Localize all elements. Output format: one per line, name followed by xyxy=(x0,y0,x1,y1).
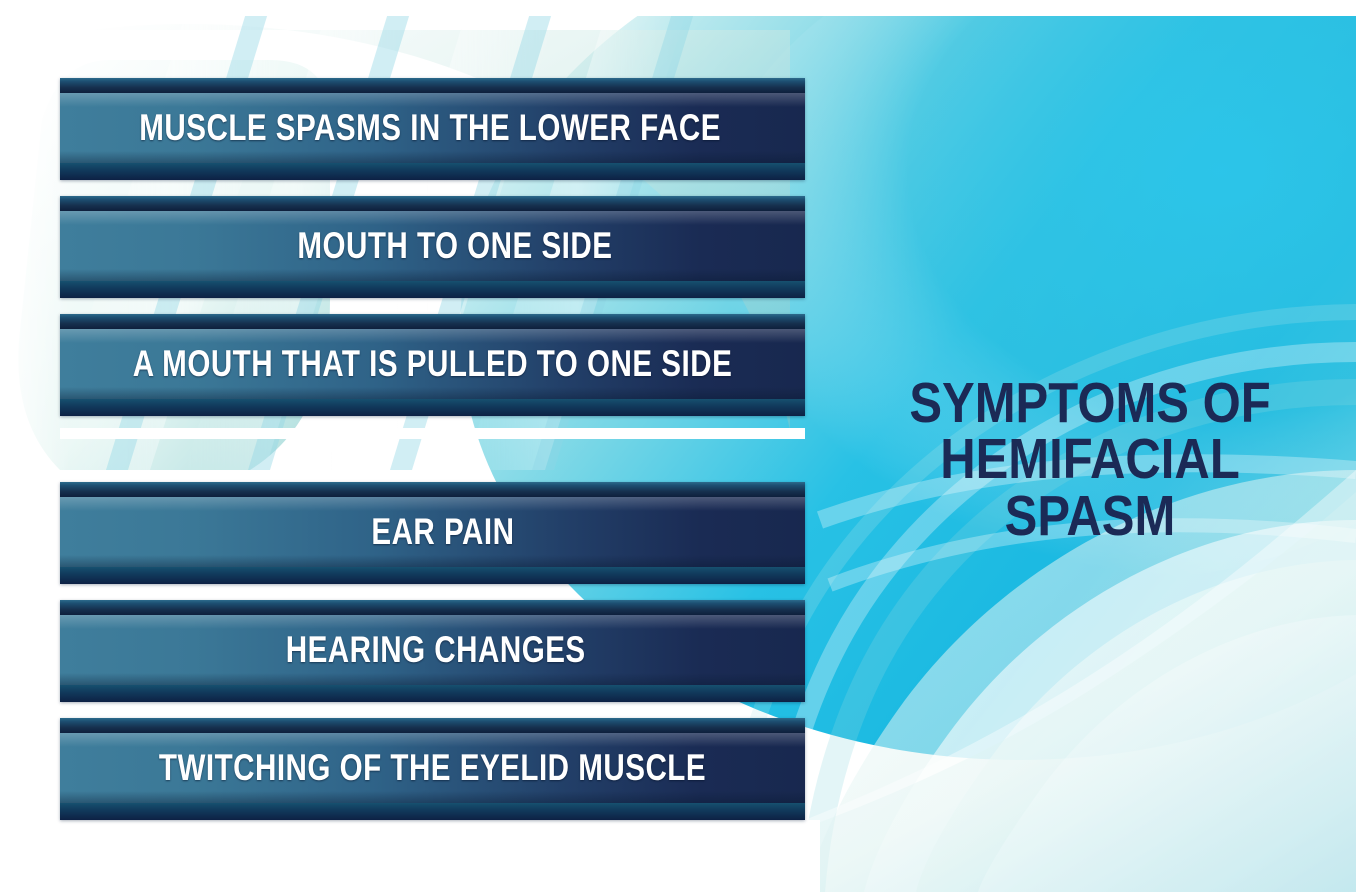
bar-top-edge xyxy=(60,196,805,211)
bar-bottom-edge xyxy=(60,685,805,702)
bar-bottom-edge xyxy=(60,163,805,180)
bar-top-edge xyxy=(60,600,805,615)
bar-top-edge xyxy=(60,482,805,497)
symptom-bar: MOUTH TO ONE SIDE xyxy=(60,196,805,298)
bar-top-edge xyxy=(60,78,805,93)
symptom-label: A MOUTH THAT IS PULLED TO ONE SIDE xyxy=(135,329,731,399)
infographic-canvas: MUSCLE SPASMS IN THE LOWER FACE MOUTH TO… xyxy=(0,0,1356,892)
bar-top-edge xyxy=(60,718,805,733)
symptom-bar: TWITCHING OF THE EYELID MUSCLE xyxy=(60,718,805,820)
symptom-label: MOUTH TO ONE SIDE xyxy=(135,211,731,281)
symptom-bar: HEARING CHANGES xyxy=(60,600,805,702)
bar-bottom-edge xyxy=(60,399,805,416)
symptom-label: TWITCHING OF THE EYELID MUSCLE xyxy=(135,733,731,803)
infographic-title: SYMPTOMS OF HEMIFACIAL SPASM xyxy=(830,375,1350,544)
white-divider-line xyxy=(60,428,805,439)
bar-top-edge xyxy=(60,314,805,329)
bar-bottom-edge xyxy=(60,567,805,584)
symptom-bar: A MOUTH THAT IS PULLED TO ONE SIDE xyxy=(60,314,805,416)
symptom-bar-list: MUSCLE SPASMS IN THE LOWER FACE MOUTH TO… xyxy=(0,0,860,892)
symptom-bar: MUSCLE SPASMS IN THE LOWER FACE xyxy=(60,78,805,180)
symptom-label: MUSCLE SPASMS IN THE LOWER FACE xyxy=(135,93,731,163)
bar-bottom-edge xyxy=(60,281,805,298)
title-line-1: SYMPTOMS OF xyxy=(866,375,1313,431)
symptom-bar: EAR PAIN xyxy=(60,482,805,584)
bar-bottom-edge xyxy=(60,803,805,820)
title-line-2: HEMIFACIAL SPASM xyxy=(866,431,1313,544)
symptom-label: EAR PAIN xyxy=(135,497,731,567)
symptom-label: HEARING CHANGES xyxy=(135,615,731,685)
